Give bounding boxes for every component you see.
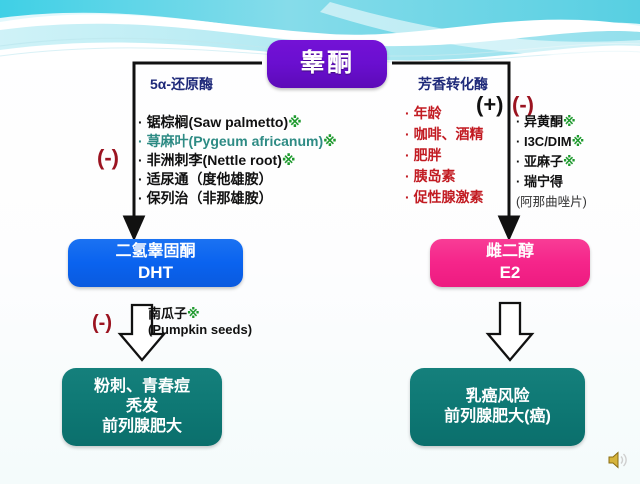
dht-outcome-line-2: 秃发 — [126, 397, 158, 417]
list-item-label: 瑞宁得 — [524, 174, 563, 189]
estradiol-outcome-line-1: 乳癌风险 — [465, 387, 529, 407]
list-item: · 保列治（非那雄胺） — [138, 189, 337, 208]
minus-sign-pumpkin: (-) — [92, 312, 112, 335]
bullet: · — [138, 113, 143, 132]
list-item-label: 咖啡、酒精 — [414, 126, 484, 142]
pumpkin-label-cn: 南瓜子 — [148, 306, 187, 321]
list-item-label: 保列治（非那雄胺） — [147, 190, 273, 206]
dht-outcome-line-3: 前列腺肥大 — [102, 417, 182, 437]
bullet: · — [138, 132, 143, 151]
list-item-label: 亚麻子 — [524, 154, 563, 169]
aromatase-inhibitor-list: · 异黄酮※ · I3C/DIM※ · 亚麻子※ · 瑞宁得 (阿那曲唑片) — [516, 112, 587, 212]
pumpkin-seed-annotation: 南瓜子※ (Pumpkin seeds) — [148, 306, 252, 338]
bullet: · — [516, 132, 520, 152]
bullet: · — [138, 170, 143, 189]
bullet: · — [405, 166, 410, 187]
bullet: · — [138, 151, 143, 170]
list-item: · I3C/DIM※ — [516, 132, 587, 152]
list-item-label: 年龄 — [414, 105, 442, 121]
minus-sign-reductase: (-) — [97, 145, 119, 171]
list-item-label: 肥胖 — [414, 147, 442, 163]
list-item-label: 非洲刺李(Nettle root) — [147, 152, 282, 168]
list-item-generic-name: (阿那曲唑片) — [516, 192, 587, 212]
reference-star-icon: ※ — [187, 306, 200, 321]
speaker-icon[interactable] — [606, 448, 632, 472]
testosterone-node: 睾酮 — [267, 40, 387, 88]
list-item: · 锯棕榈(Saw palmetto)※ — [138, 113, 337, 132]
estradiol-outcome-node: 乳癌风险 前列腺肥大(癌) — [410, 368, 585, 446]
aromatase-activator-list: · 年龄 · 咖啡、酒精 · 肥胖 · 胰岛素 · 促性腺激素 — [405, 103, 484, 208]
dht-outcome-line-1: 粉刺、青春痘 — [94, 377, 190, 397]
estradiol-label-en: E2 — [500, 262, 521, 283]
reference-star-icon: ※ — [572, 134, 585, 149]
bullet: · — [405, 103, 410, 124]
dht-outcome-node: 粉刺、青春痘 秃发 前列腺肥大 — [62, 368, 222, 446]
list-item-label: 胰岛素 — [414, 168, 456, 184]
list-item: · 胰岛素 — [405, 166, 484, 187]
dht-label-en: DHT — [138, 262, 173, 283]
reference-star-icon: ※ — [563, 154, 576, 169]
reference-star-icon: ※ — [563, 114, 576, 129]
dht-node: 二氢睾固酮 DHT — [68, 239, 243, 287]
list-item: · 异黄酮※ — [516, 112, 587, 132]
list-item-label: 促性腺激素 — [414, 189, 484, 205]
bullet: · — [405, 145, 410, 166]
list-item: · 促性腺激素 — [405, 187, 484, 208]
bullet: · — [138, 189, 143, 208]
list-item-label: 异黄酮 — [524, 114, 563, 129]
bullet: · — [405, 124, 410, 145]
reference-star-icon: ※ — [288, 114, 302, 130]
enzyme-label-5alpha-reductase: 5α-还原酶 — [150, 74, 213, 94]
bullet: · — [516, 172, 520, 192]
list-item: · 瑞宁得 — [516, 172, 587, 192]
bullet: · — [405, 187, 410, 208]
enzyme-label-aromatase: 芳香转化酶 — [418, 74, 488, 94]
list-item-label: 适尿通（度他雄胺） — [147, 171, 273, 187]
estradiol-node: 雌二醇 E2 — [430, 239, 590, 287]
list-item: · 年龄 — [405, 103, 484, 124]
reference-star-icon: ※ — [323, 133, 337, 149]
testosterone-label: 睾酮 — [300, 48, 354, 79]
bullet: · — [516, 112, 520, 132]
list-item-label: 荨麻叶(Pygeum africanum) — [147, 133, 324, 149]
bullet: · — [516, 152, 520, 172]
dht-label-cn: 二氢睾固酮 — [115, 242, 195, 262]
list-item: · 荨麻叶(Pygeum africanum)※ — [138, 132, 337, 151]
list-item: · 非洲刺李(Nettle root)※ — [138, 151, 337, 170]
estradiol-outcome-line-2: 前列腺肥大(癌) — [444, 407, 551, 427]
list-item: · 适尿通（度他雄胺） — [138, 170, 337, 189]
reductase-inhibitor-list: · 锯棕榈(Saw palmetto)※ · 荨麻叶(Pygeum africa… — [138, 113, 337, 208]
list-item: · 咖啡、酒精 — [405, 124, 484, 145]
reference-star-icon: ※ — [282, 152, 296, 168]
list-item: · 亚麻子※ — [516, 152, 587, 172]
pumpkin-label-en: (Pumpkin seeds) — [148, 322, 252, 337]
estradiol-label-cn: 雌二醇 — [486, 242, 534, 262]
list-item-label: 锯棕榈(Saw palmetto) — [147, 114, 289, 130]
list-item-label: I3C/DIM — [524, 134, 572, 149]
list-item: · 肥胖 — [405, 145, 484, 166]
slide-canvas: 睾酮 5α-还原酶 芳香转化酶 (-) (+) (-) (-) · 锯棕榈(Sa… — [0, 0, 640, 484]
